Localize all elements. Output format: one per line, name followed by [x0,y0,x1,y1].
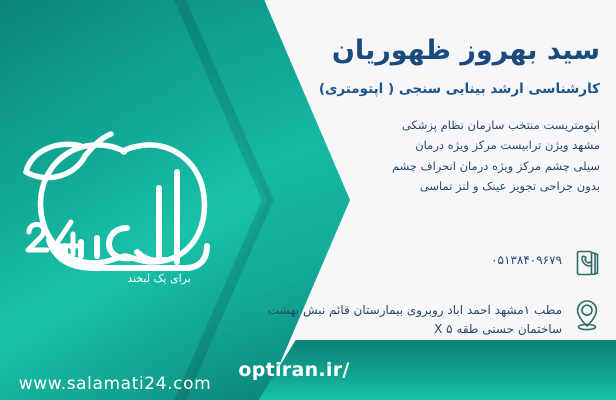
address-line: ساختمان حسنی طقه ۵ X [434,322,562,336]
phone-number[interactable]: ۰۵۱۳۸۴۰۹۶۷۹ [266,248,562,270]
contact-block: ۰۵۱۳۸۴۰۹۶۷۹ مطب ۱مشهد احمد اباد روبروی ب… [266,248,602,354]
description-line: سیلی چشم مرکز ویژه درمان انحراف چشم [268,156,600,176]
description-line: بدون جراحی تجویز عینک و لنز تماسی [268,176,600,196]
contact-row-address[interactable]: مطب ۱مشهد احمد اباد روبروی بیمارستان قائ… [266,298,602,338]
logo-tagline: برای یک لبخند [127,272,191,285]
profile-content: سید بهروز ظهوریان کارشناسی ارشد بینایی س… [268,34,600,197]
profile-card: برای یک لبخند www.salamati24.com سید بهر… [0,0,616,400]
brand-logo: برای یک لبخند [8,108,238,288]
description-line: اپتومتریست منتخب سازمان نظام پزشکی [268,115,600,135]
profile-subtitle: کارشناسی ارشد بینایی سنجی ( اپتومتری) [268,80,600,99]
location-pin-icon [572,298,602,332]
page-title: سید بهروز ظهوریان [268,34,600,68]
description-line: مشهد ویژن ترابیست مرکز ویژه درمان [268,135,600,155]
phonebook-icon [572,248,602,282]
brand-website[interactable]: www.salamati24.com [0,374,230,394]
profile-description: اپتومتریست منتخب سازمان نظام پزشکی مشهد … [268,115,600,197]
salamati24-apple-logo-icon: برای یک لبخند [9,110,237,286]
contact-row-phone[interactable]: ۰۵۱۳۸۴۰۹۶۷۹ [266,248,602,282]
address-text[interactable]: مطب ۱مشهد احمد اباد روبروی بیمارستان قائ… [266,298,562,338]
address-line: مطب ۱مشهد احمد اباد روبروی بیمارستان قائ… [268,303,562,317]
